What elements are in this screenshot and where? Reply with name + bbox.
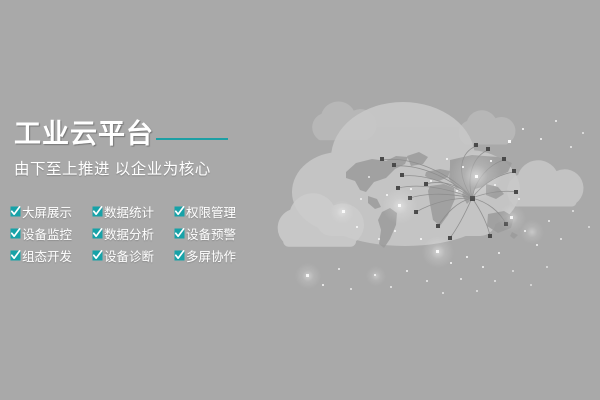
check-icon bbox=[10, 206, 21, 217]
cloud-world-network-illustration bbox=[250, 80, 600, 310]
feature-item-device-diagnosis[interactable]: 设备诊断 bbox=[92, 246, 174, 265]
feature-label: 数据分析 bbox=[104, 224, 154, 243]
check-icon bbox=[10, 228, 21, 239]
check-icon bbox=[174, 206, 185, 217]
feature-item-device-monitoring[interactable]: 设备监控 bbox=[10, 224, 92, 243]
page-title: 工业云平台 bbox=[14, 120, 154, 148]
feature-label: 设备诊断 bbox=[104, 246, 154, 265]
check-icon bbox=[92, 228, 103, 239]
feature-item-big-screen-display[interactable]: 大屏展示 bbox=[10, 202, 92, 221]
feature-label: 数据统计 bbox=[104, 202, 154, 221]
feature-label: 组态开发 bbox=[22, 246, 72, 265]
feature-item-permission-management[interactable]: 权限管理 bbox=[174, 202, 256, 221]
check-icon bbox=[92, 250, 103, 261]
feature-item-configuration-development[interactable]: 组态开发 bbox=[10, 246, 92, 265]
title-row: 工业云平台 bbox=[14, 120, 264, 148]
title-underline-rule bbox=[156, 138, 228, 140]
feature-row: 大屏展示 数据统计 权限管理 bbox=[10, 202, 256, 221]
feature-checklist: 大屏展示 数据统计 权限管理 bbox=[10, 202, 256, 268]
check-icon bbox=[10, 250, 21, 261]
feature-label: 设备监控 bbox=[22, 224, 72, 243]
feature-label: 多屏协作 bbox=[186, 246, 236, 265]
check-icon bbox=[92, 206, 103, 217]
hero-banner: 工业云平台 由下至上推进 以企业为核心 大屏展示 bbox=[0, 0, 600, 400]
feature-item-data-statistics[interactable]: 数据统计 bbox=[92, 202, 174, 221]
check-icon bbox=[174, 250, 185, 261]
feature-item-data-analysis[interactable]: 数据分析 bbox=[92, 224, 174, 243]
feature-row: 设备监控 数据分析 设备预警 bbox=[10, 224, 256, 243]
check-icon bbox=[174, 228, 185, 239]
feature-row: 组态开发 设备诊断 多屏协作 bbox=[10, 246, 256, 265]
feature-item-multi-screen-collaboration[interactable]: 多屏协作 bbox=[174, 246, 256, 265]
feature-label: 权限管理 bbox=[186, 202, 236, 221]
page-subtitle: 由下至上推进 以企业为核心 bbox=[14, 157, 264, 179]
feature-item-device-alarm[interactable]: 设备预警 bbox=[174, 224, 256, 243]
feature-label: 大屏展示 bbox=[22, 202, 72, 221]
headline-block: 工业云平台 由下至上推进 以企业为核心 bbox=[14, 120, 264, 179]
feature-label: 设备预警 bbox=[186, 224, 236, 243]
